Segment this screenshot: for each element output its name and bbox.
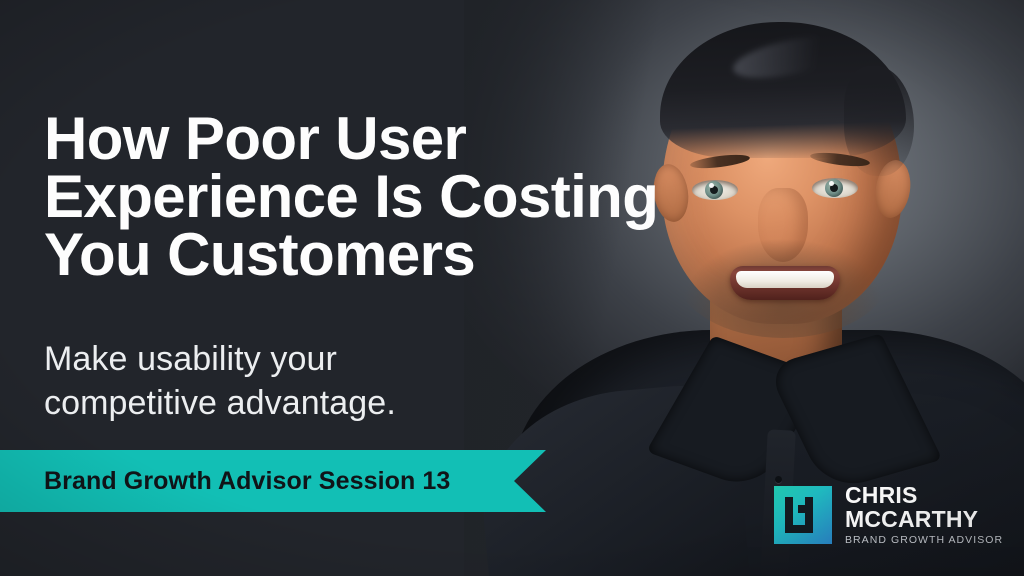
mouth-shape	[730, 266, 840, 300]
slide-subheadline: Make usability your competitive advantag…	[44, 337, 564, 425]
session-ribbon-label: Brand Growth Advisor Session 13	[0, 467, 450, 496]
headline-line-2: Experience Is Costing	[44, 168, 724, 226]
logo-last-name: MCCARTHY	[845, 508, 1003, 531]
monogram-glyph-icon	[785, 497, 821, 533]
eye-highlight-right	[829, 181, 834, 186]
subheadline-line-1: Make usability your	[44, 337, 564, 381]
brand-logo-lockup: CHRIS MCCARTHY BRAND GROWTH ADVISOR	[774, 484, 1003, 546]
chris-mccarthy-monogram-icon	[774, 486, 832, 544]
subheadline-line-2: competitive advantage.	[44, 381, 564, 425]
slide-headline: How Poor User Experience Is Costing You …	[44, 110, 724, 284]
iris-right-shape	[825, 179, 843, 197]
shirt-button-upper	[775, 476, 782, 483]
logo-tagline: BRAND GROWTH ADVISOR	[845, 535, 1003, 546]
presentation-slide: How Poor User Experience Is Costing You …	[0, 0, 1024, 576]
brand-logo-text: CHRIS MCCARTHY BRAND GROWTH ADVISOR	[845, 484, 1003, 546]
session-ribbon: Brand Growth Advisor Session 13	[0, 450, 546, 512]
teeth-shape	[736, 271, 834, 288]
headline-line-1: How Poor User	[44, 110, 724, 168]
headline-line-3: You Customers	[44, 226, 724, 284]
logo-first-name: CHRIS	[845, 484, 1003, 507]
eye-right-shape	[812, 178, 858, 198]
